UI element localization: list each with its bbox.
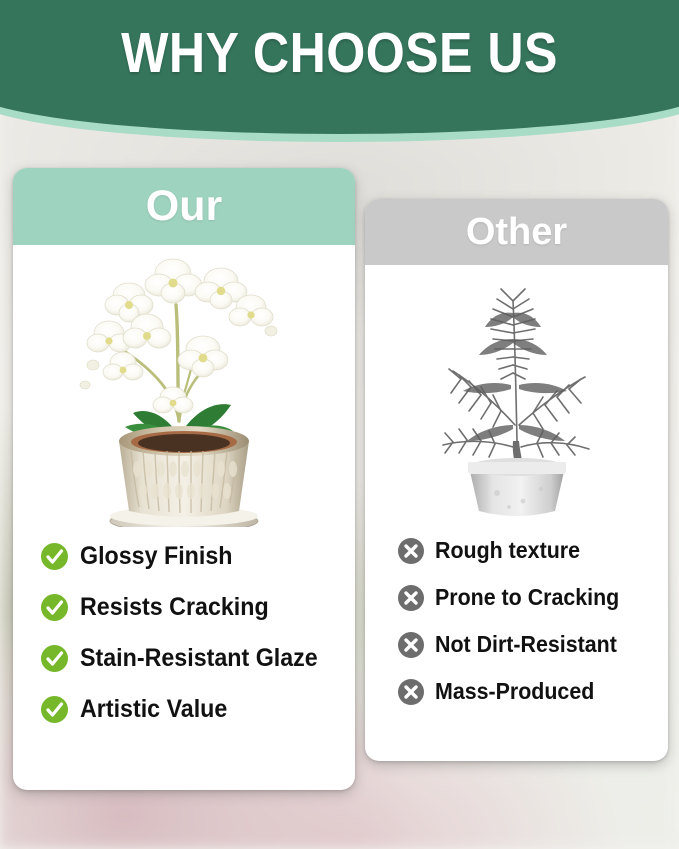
check-circle-icon: [41, 543, 68, 570]
check-circle-icon: [41, 594, 68, 621]
feature-label: Glossy Finish: [80, 542, 232, 571]
check-circle-icon: [41, 696, 68, 723]
check-circle-icon: [41, 645, 68, 672]
feature-list-other: Rough texture Prone to Cracking Not Dirt…: [365, 525, 668, 715]
comparison-card-other: Other: [365, 199, 668, 761]
feature-label: Stain-Resistant Glaze: [80, 644, 318, 673]
feature-label: Resists Cracking: [80, 593, 269, 622]
list-item: Rough texture: [398, 527, 668, 574]
feature-list-our: Glossy Finish Resists Cracking Stain-Res…: [13, 527, 355, 735]
feature-label: Artistic Value: [80, 695, 227, 724]
product-image-other: [365, 265, 668, 525]
cross-circle-icon: [398, 538, 424, 564]
comparison-card-our: Our: [13, 168, 355, 790]
feature-label: Prone to Cracking: [435, 584, 619, 611]
cross-circle-icon: [398, 585, 424, 611]
palm-plant-in-plain-pot-illustration: [405, 265, 629, 521]
feature-label: Mass-Produced: [435, 678, 594, 705]
cross-circle-icon: [398, 679, 424, 705]
page-title: WHY CHOOSE US: [41, 22, 639, 84]
list-item: Resists Cracking: [41, 582, 355, 633]
cross-circle-icon: [398, 632, 424, 658]
orchid-in-ceramic-pot-illustration: [55, 245, 313, 527]
feature-label: Not Dirt-Resistant: [435, 631, 617, 658]
card-heading-our: Our: [13, 168, 355, 245]
list-item: Prone to Cracking: [398, 574, 668, 621]
list-item: Artistic Value: [41, 684, 355, 735]
list-item: Mass-Produced: [398, 668, 668, 715]
list-item: Not Dirt-Resistant: [398, 621, 668, 668]
list-item: Glossy Finish: [41, 531, 355, 582]
card-heading-other: Other: [365, 199, 668, 265]
feature-label: Rough texture: [435, 537, 580, 564]
product-image-our: [13, 245, 355, 527]
list-item: Stain-Resistant Glaze: [41, 633, 355, 684]
